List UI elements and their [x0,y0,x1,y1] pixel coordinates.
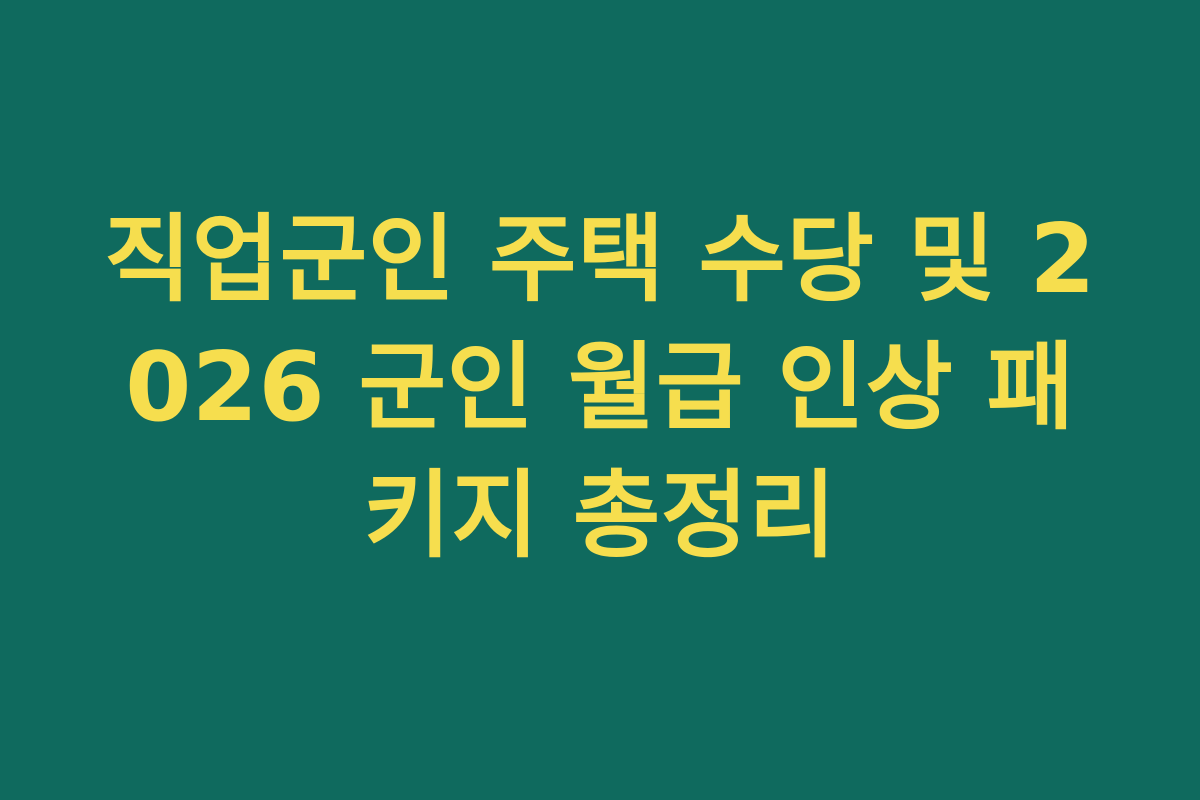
headline-title: 직업군인 주택 수당 및 2026 군인 월급 인상 패키지 총정리 [85,196,1115,580]
headline-block: 직업군인 주택 수당 및 2026 군인 월급 인상 패키지 총정리 [85,196,1115,580]
thumbnail-canvas: 직업군인 주택 수당 및 2026 군인 월급 인상 패키지 총정리 [0,0,1200,800]
